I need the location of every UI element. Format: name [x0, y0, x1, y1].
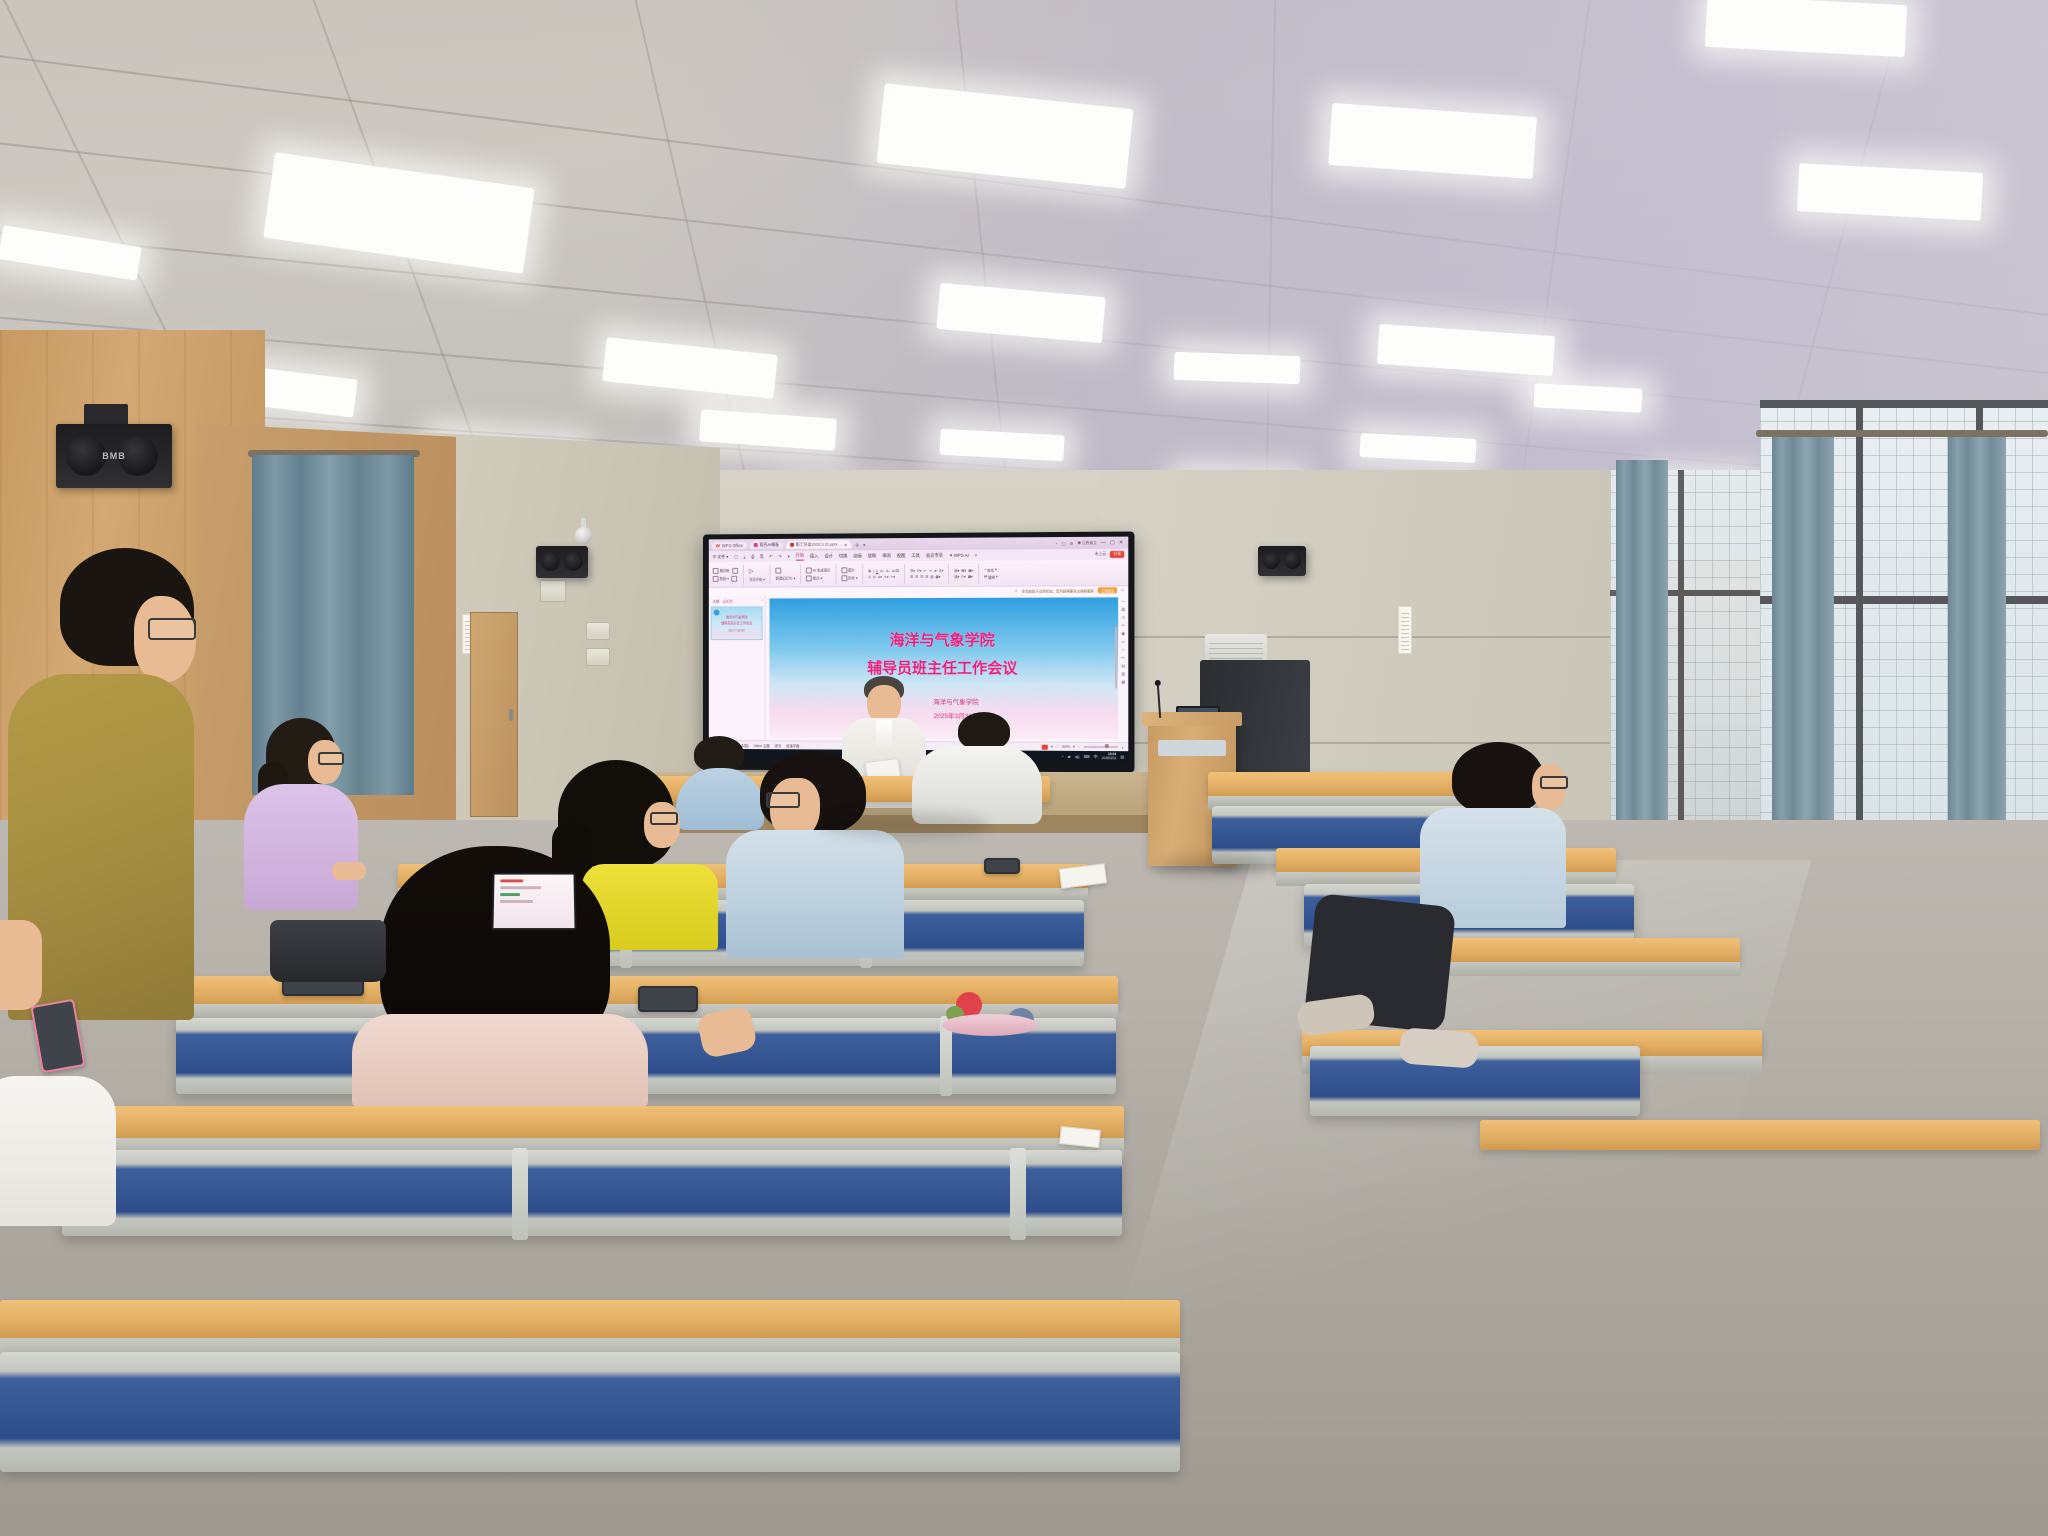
- ribbon-group-editing: ⌕ 查找▾ ⇄ 替换▾: [984, 567, 997, 579]
- screen-line: [500, 886, 541, 889]
- zoom-dropdown-icon[interactable]: ▾: [1073, 745, 1075, 749]
- zoom-out-icon[interactable]: −: [1078, 745, 1080, 749]
- collapse-panel-icon[interactable]: ‹: [761, 598, 762, 603]
- system-tray[interactable]: ^ ▰ ◂)) ⌨ 中 15:04 2025/3/31 ▤: [1062, 753, 1125, 760]
- wall-speaker-left: BMB: [56, 424, 172, 488]
- play-icon[interactable]: [1042, 744, 1048, 749]
- torso: [352, 1014, 648, 1106]
- sidebar-tool-clip-icon[interactable]: ✂: [1121, 655, 1124, 660]
- qa-save-icon[interactable]: ⤓: [744, 554, 746, 559]
- fill-icon[interactable]: ▦▾: [968, 574, 973, 578]
- qa-undo-icon[interactable]: ↶: [769, 554, 772, 559]
- slide-title-line2: 辅导员班主任工作会议: [867, 657, 1017, 678]
- door-handle-icon: [509, 709, 513, 721]
- seat-divider: [512, 1148, 528, 1240]
- menu-tab-insert[interactable]: 插入: [810, 553, 818, 559]
- clock-date: 2025/3/31: [1102, 757, 1116, 761]
- align-left-icon[interactable]: ☰: [910, 575, 913, 579]
- wps-w-icon: W: [716, 543, 720, 548]
- desk-surface: [0, 1300, 1180, 1340]
- notification-icon[interactable]: ▤: [1120, 754, 1124, 759]
- wall-speaker-right: [1258, 546, 1306, 576]
- wall-socket: [586, 622, 610, 640]
- ribbon-format[interactable]: 版式 ▾: [806, 575, 822, 581]
- menu-tab-transition[interactable]: 切换: [839, 553, 848, 559]
- torso: [0, 1076, 116, 1226]
- ribbon-group-insert: 图片 形状 ▾: [841, 567, 857, 581]
- person-foreground-bottom-left: [0, 920, 126, 1220]
- menu-tab-view[interactable]: 视图: [897, 553, 906, 559]
- sidebar-tool-layout-icon[interactable]: ▣: [1121, 631, 1125, 636]
- wps-tab-templates[interactable]: 稻壳AI模板: [750, 541, 783, 549]
- menu-file[interactable]: ☰ 文件 ▾: [713, 554, 728, 560]
- shape-icon: [841, 575, 847, 581]
- dome-camera-icon: [575, 527, 592, 544]
- play-dropdown-icon[interactable]: ▾: [1051, 745, 1053, 749]
- warning-icon: ⚠: [1015, 589, 1018, 593]
- wps-tab-label-2: 职工任会2026.3.31.pptx: [796, 542, 838, 548]
- slide-icon: [776, 568, 782, 574]
- ribbon-group-clipboard: 格式刷 粘贴 ▾: [713, 567, 739, 581]
- status-right-group[interactable]: ▾ ⛶ 100% ▾ − ＋: [1042, 744, 1124, 749]
- align-justify-icon[interactable]: ☰: [925, 574, 928, 578]
- person-seated-man-blue-stripe: [726, 752, 906, 952]
- tab-sync-icon[interactable]: ◌: [840, 542, 842, 547]
- speaker-brand-label: BMB: [102, 451, 126, 461]
- fit-to-window-icon[interactable]: ⛶: [1056, 745, 1058, 749]
- close-icon[interactable]: ✕: [1119, 540, 1123, 546]
- zoom-slider[interactable]: [1083, 746, 1118, 748]
- wps-office-logo[interactable]: W WPS Office: [712, 542, 747, 549]
- thumbnail-subtitle: 海洋与气象学院: [728, 628, 744, 632]
- side-door[interactable]: [470, 612, 518, 817]
- clear-format-icon[interactable]: A⌫: [892, 569, 899, 573]
- rotate-icon[interactable]: ↻▾: [961, 574, 966, 578]
- sidebar-tool-favorite-icon[interactable]: ☆: [1121, 647, 1125, 652]
- ribbon-group-ai: AI 生成演示 版式 ▾: [806, 567, 830, 581]
- zoom-in-icon[interactable]: ＋: [1121, 745, 1124, 750]
- hand-foreground: [0, 920, 42, 1010]
- layout-icon: [806, 575, 812, 581]
- laptop-screen: [493, 875, 574, 928]
- ribbon-format-painter[interactable]: 格式刷: [713, 567, 730, 573]
- align-right-icon[interactable]: ☰: [920, 574, 923, 578]
- settings-icon[interactable]: ⚙: [1070, 540, 1074, 545]
- glasses-icon: [650, 812, 678, 825]
- bold-icon[interactable]: B: [868, 569, 870, 573]
- flower-arrangement: [940, 992, 1000, 1032]
- notice-close-icon[interactable]: ✕: [1121, 588, 1124, 592]
- seat-row-2: [62, 1150, 1122, 1236]
- sidebar-tool-grid-icon[interactable]: ▦: [1121, 679, 1125, 684]
- indent-dec-icon[interactable]: ⇤: [924, 568, 927, 572]
- group-icon[interactable]: ▨▾: [954, 574, 959, 578]
- clipboard-icon: [713, 575, 719, 581]
- underline-icon[interactable]: U: [876, 569, 878, 573]
- floor-shadow: [1160, 856, 1270, 876]
- person-seated-man-white: [912, 712, 1042, 822]
- tab-close-icon[interactable]: ✕: [844, 542, 847, 547]
- person-seated-man-right: [1420, 742, 1568, 922]
- qa-more-icon[interactable]: ▾: [788, 554, 790, 559]
- font-shrink-icon[interactable]: A↓: [886, 569, 890, 573]
- zoom-slider-knob: [1104, 744, 1108, 748]
- replace-icon[interactable]: ⇄ 替换▾: [984, 574, 997, 579]
- outline-view-tab[interactable]: 大纲: [713, 599, 720, 604]
- ime-icon[interactable]: ⌨: [1084, 754, 1090, 759]
- menu-tab-slideshow[interactable]: 放映: [868, 553, 877, 559]
- status-mode[interactable]: 阅读字数: [786, 743, 799, 748]
- zoom-level-label[interactable]: 100%: [1061, 745, 1070, 749]
- wps-tab-label-0: WPS Office: [722, 543, 743, 548]
- strikethrough-icon[interactable]: S: [868, 575, 870, 579]
- qa-export-icon[interactable]: ⎘: [760, 554, 763, 559]
- menu-tab-member[interactable]: 会员专享: [926, 552, 943, 558]
- restore-icon[interactable]: ▢: [1062, 541, 1066, 546]
- glasses-icon: [766, 792, 800, 808]
- numbering-icon[interactable]: ☷▾: [917, 568, 922, 572]
- search-icon[interactable]: ⌕: [975, 553, 978, 558]
- brush-icon: [713, 567, 719, 573]
- wall-notice: [1398, 606, 1412, 654]
- hair: [1452, 742, 1544, 814]
- find-icon[interactable]: ⌕ 查找▾: [984, 567, 996, 572]
- ribbon-ai-generate[interactable]: AI 生成演示: [806, 567, 830, 573]
- scissors-icon: [732, 567, 738, 573]
- desk-surface: [54, 1106, 1124, 1140]
- face: [644, 802, 680, 848]
- wall-speaker-center: [536, 546, 588, 578]
- glasses-icon: [1540, 776, 1568, 789]
- wps-tab-active-file[interactable]: 职工任会2026.3.31.pptx ◌ ✕: [786, 540, 851, 548]
- wps-ribbon[interactable]: 格式刷 粘贴 ▾ ▷ 当页开始 ▾ 新建幻灯片 ▾: [709, 560, 1128, 588]
- thumbnail-title-line1: 海洋与气象学院: [726, 614, 748, 619]
- menu-tab-design[interactable]: 设计: [824, 553, 832, 559]
- pptx-file-icon: [790, 543, 794, 547]
- ribbon-play-icon[interactable]: ▷: [749, 567, 754, 574]
- torso: [726, 830, 904, 958]
- copy-icon: [732, 575, 738, 581]
- ribbon-play-label[interactable]: 当页开始 ▾: [749, 576, 765, 581]
- font-grow-icon[interactable]: A↑: [880, 569, 884, 573]
- person-seated-woman-lilac: [236, 718, 362, 908]
- tab-overflow-icon[interactable]: ▾: [863, 542, 865, 547]
- cloud-status-label[interactable]: 未上云: [1095, 552, 1107, 557]
- sidebar-tool-table-icon[interactable]: ▤: [1121, 663, 1125, 668]
- menu-tab-tools[interactable]: 工具: [911, 552, 920, 558]
- arrange-icon[interactable]: ▧▾: [954, 568, 959, 572]
- glasses-icon: [318, 752, 344, 765]
- slide-title-line1: 海洋与气象学院: [890, 629, 995, 650]
- ribbon-new-slide-icon[interactable]: [776, 568, 782, 574]
- align-center-icon[interactable]: ☰: [915, 574, 918, 578]
- window-controls-group[interactable]: ◔ ▢ ⚙ ◉ 江西省立 — ▢ ✕: [1055, 540, 1125, 547]
- screen-line: [500, 879, 523, 882]
- curtain-rod-right: [1756, 430, 2048, 437]
- menu-tab-animation[interactable]: 动画: [853, 553, 862, 559]
- wall-socket: [586, 648, 610, 666]
- floor-shadow: [820, 812, 990, 838]
- share-button[interactable]: 分享: [1110, 551, 1124, 558]
- shoe: [1399, 1027, 1479, 1068]
- superscript-icon[interactable]: X²: [873, 575, 876, 579]
- ceiling-light: [1174, 352, 1301, 384]
- screen-line: [500, 893, 520, 896]
- ribbon-shape[interactable]: 形状 ▾: [841, 575, 857, 581]
- char-spacing-icon[interactable]: ⇿▾: [890, 575, 895, 579]
- curtain-window-far-right: [1616, 460, 1668, 860]
- ribbon-cut[interactable]: [732, 567, 738, 573]
- notice-text: 你当前处于试用状态，您可获得更多文档和服务: [1022, 588, 1094, 593]
- laptop[interactable]: [491, 873, 576, 930]
- slide-thumbnail-panel[interactable]: 大纲 幻灯片 ‹ 海洋与气象学院 辅导员班主任工作会议 海洋与气象学院: [709, 595, 766, 740]
- align-objects-icon[interactable]: ▤▾: [961, 568, 966, 572]
- bullets-icon[interactable]: ☰▾: [910, 569, 915, 573]
- screen-line: [500, 900, 533, 903]
- network-icon[interactable]: ▰: [1068, 754, 1071, 759]
- highlight-icon[interactable]: ✎▾: [884, 575, 889, 579]
- slide-tools-sidebar[interactable]: — ▨ ◷ ✂ ▣ ▭ ☆ ✂ ▤ ▥ ▦: [1118, 594, 1128, 742]
- lectern-control-panel[interactable]: [1158, 740, 1226, 756]
- sidebar-tool-history-icon[interactable]: ◷: [1121, 615, 1125, 620]
- seat-row-1: [0, 1352, 1180, 1472]
- slides-view-tab[interactable]: 幻灯片: [723, 599, 733, 604]
- sidebar-tool-frame-icon[interactable]: ▭: [1121, 639, 1125, 644]
- maximize-icon[interactable]: ▢: [1110, 540, 1115, 546]
- qa-redo-icon[interactable]: ↷: [778, 554, 781, 559]
- minimize-icon[interactable]: —: [1101, 540, 1106, 546]
- activate-button[interactable]: 立即激活: [1098, 587, 1117, 593]
- taskbar-clock[interactable]: 15:04 2025/3/31: [1102, 753, 1116, 760]
- sidebar-tool-chart-icon[interactable]: ▥: [1121, 671, 1125, 676]
- template-doc-icon: [754, 543, 758, 547]
- smartart-icon[interactable]: ▩▾: [936, 574, 941, 578]
- menu-tab-review[interactable]: 审阅: [882, 553, 891, 559]
- volume-icon[interactable]: ◂)): [1075, 754, 1080, 759]
- ribbon-group-slides: 新建幻灯片 ▾: [776, 568, 795, 581]
- flower-tray: [942, 1014, 1038, 1036]
- ribbon-group-slideshow: ▷ 当页开始 ▾: [749, 567, 765, 581]
- ribbon-picture[interactable]: 图片: [841, 567, 855, 573]
- vertical-scrollbar[interactable]: [1115, 627, 1117, 689]
- ceiling-light: [1797, 163, 1983, 221]
- ribbon-group-font: B I U A↑ A↓ A⌫ S X² A▾ ✎▾ ⇿▾: [868, 569, 899, 579]
- smartphone-on-desk-2[interactable]: [984, 858, 1020, 874]
- ribbon-paste[interactable]: 粘贴 ▾: [713, 575, 729, 581]
- backpack: [270, 920, 386, 982]
- menu-right-group[interactable]: 未上云 分享: [1095, 551, 1125, 558]
- wps-tab-label-1: 稻壳AI模板: [760, 542, 779, 548]
- torso: [244, 784, 358, 910]
- lectern-top-surface: [1142, 712, 1242, 726]
- menu-tab-start[interactable]: 开始: [796, 552, 804, 560]
- ime-mode-label[interactable]: 中: [1094, 754, 1098, 760]
- smartphone-on-desk[interactable]: [638, 986, 698, 1012]
- sidebar-tool-cut-icon[interactable]: ✂: [1121, 623, 1124, 628]
- qa-print-icon[interactable]: ⎙: [751, 554, 754, 559]
- slide-subtitle-org: 海洋与气象学院: [933, 696, 979, 706]
- slide-thumbnail-1[interactable]: 海洋与气象学院 辅导员班主任工作会议 海洋与气象学院: [711, 606, 763, 640]
- sidebar-tool-collapse-icon[interactable]: —: [1121, 598, 1125, 603]
- italic-icon[interactable]: I: [873, 569, 874, 573]
- thumbnail-title-line2: 辅导员班主任工作会议: [721, 620, 752, 625]
- ribbon-copy[interactable]: [732, 575, 738, 581]
- help-icon[interactable]: ◔: [1055, 541, 1057, 546]
- image-icon: [841, 567, 847, 573]
- sparkle-icon: [806, 567, 812, 573]
- account-avatar[interactable]: ◉ 江西省立: [1077, 540, 1096, 545]
- lecture-hall-scene: BMB W WPS Office 稻壳AI模板: [0, 0, 2048, 1536]
- desk-surface: [1480, 1120, 2040, 1150]
- text-dir-icon[interactable]: ⇵▾: [939, 568, 944, 572]
- indent-inc-icon[interactable]: ⇥: [928, 568, 931, 572]
- new-tab-icon[interactable]: ＋: [854, 540, 860, 549]
- speaker-collar: [876, 720, 892, 754]
- ribbon-new-slide[interactable]: 新建幻灯片 ▾: [776, 576, 795, 581]
- tray-expand-icon[interactable]: ^: [1062, 754, 1064, 759]
- ribbon-group-paragraph: ☰▾ ☷▾ ⇤ ⇥ ↕▾ ⇵▾ ☰ ☰ ☰ ☰ ▥ ▩▾: [910, 568, 943, 578]
- sidebar-tool-design-icon[interactable]: ▨: [1121, 606, 1125, 611]
- thumbnail-badge-icon: [714, 609, 720, 615]
- wall-socket: [540, 580, 566, 602]
- hair: [958, 712, 1010, 750]
- status-spellcheck[interactable]: 拼写: [775, 743, 782, 748]
- seat-divider: [1010, 1148, 1026, 1240]
- qa-new-icon[interactable]: ▢: [734, 554, 738, 559]
- ribbon-group-arrange: ▧▾ ▤▾ ▣▾ ▨▾ ↻▾ ▦▾: [954, 568, 973, 578]
- columns-icon[interactable]: ▥: [930, 574, 933, 578]
- text-color-icon[interactable]: A▾: [878, 575, 882, 579]
- menu-tab-wps-ai[interactable]: ✦ WPS AI: [949, 552, 969, 558]
- line-spacing-icon[interactable]: ↕▾: [933, 568, 936, 572]
- select-pane-icon[interactable]: ▣▾: [968, 568, 973, 572]
- glasses-icon: [148, 618, 196, 640]
- thumbnail-view-tabs[interactable]: 大纲 幻灯片 ‹: [711, 598, 763, 603]
